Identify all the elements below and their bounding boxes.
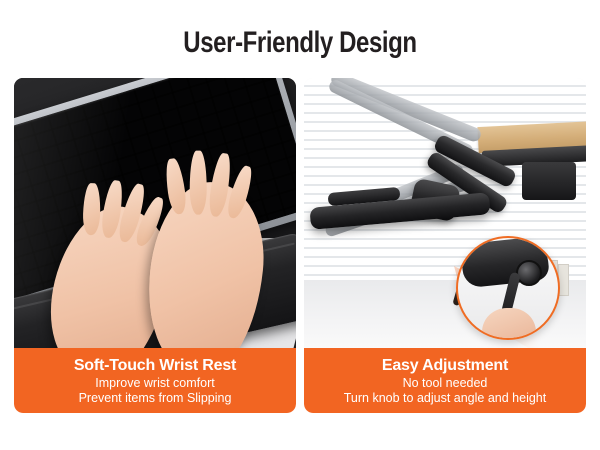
caption-line-1: Improve wrist comfort	[95, 376, 214, 391]
knob-detail-inset	[456, 236, 560, 340]
finger	[190, 151, 207, 215]
page-title: User-Friendly Design	[60, 26, 540, 60]
caption-line-2: Turn knob to adjust angle and height	[344, 391, 546, 406]
product-feature-graphic: User-Friendly Design	[0, 0, 600, 450]
caption-title: Soft-Touch Wrist Rest	[74, 356, 236, 375]
keyboard-scene	[14, 78, 296, 348]
finger	[82, 183, 101, 236]
mount-arm-scene	[304, 78, 586, 348]
feature-panel-easy-adjustment: Easy Adjustment No tool needed Turn knob…	[304, 78, 586, 413]
hand-turning-knob	[482, 308, 536, 340]
easy-adjustment-photo	[304, 78, 586, 348]
caption-line-2: Prevent items from Slipping	[79, 391, 232, 406]
caption-line-1: No tool needed	[403, 376, 488, 391]
feature-panel-wrist-rest: Soft-Touch Wrist Rest Improve wrist comf…	[14, 78, 296, 413]
wrist-rest-photo	[14, 78, 296, 348]
knob-bolt	[516, 260, 542, 286]
caption-title: Easy Adjustment	[382, 356, 508, 375]
clamp-bracket	[522, 162, 576, 200]
caption-wrist-rest: Soft-Touch Wrist Rest Improve wrist comf…	[14, 348, 296, 413]
caption-easy-adjustment: Easy Adjustment No tool needed Turn knob…	[304, 348, 586, 413]
